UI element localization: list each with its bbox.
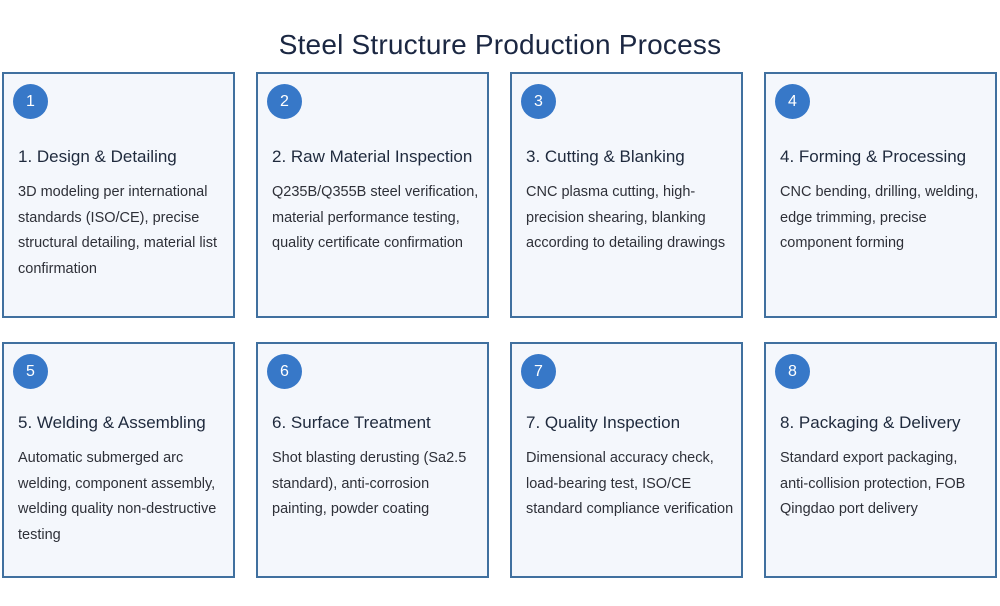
step-number-badge-4: 4 [775,84,810,119]
step-number-badge-3: 3 [521,84,556,119]
process-step-card-3[interactable]: 3 3. Cutting & Blanking CNC plasma cutti… [510,72,743,318]
process-step-card-6[interactable]: 6 6. Surface Treatment Shot blasting der… [256,342,489,578]
step-description-2: Q235B/Q355B steel verification, material… [272,180,481,257]
step-title-6: 6. Surface Treatment [272,412,507,434]
process-step-card-8[interactable]: 8 8. Packaging & Delivery Standard expor… [764,342,997,578]
step-card-body-7: 7. Quality Inspection Dimensional accura… [526,412,761,523]
process-step-card-2[interactable]: 2 2. Raw Material Inspection Q235B/Q355B… [256,72,489,318]
step-title-4: 4. Forming & Processing [780,146,1000,168]
step-title-1: 1. Design & Detailing [18,146,253,168]
process-step-grid: 1 1. Design & Detailing 3D modeling per … [2,72,999,578]
step-number-badge-5: 5 [13,354,48,389]
step-number-badge-8: 8 [775,354,810,389]
step-number-badge-7: 7 [521,354,556,389]
page-title: Steel Structure Production Process [0,29,1000,61]
step-description-1: 3D modeling per international standards … [18,180,227,282]
step-description-3: CNC plasma cutting, high-precision shear… [526,180,735,257]
process-step-card-1[interactable]: 1 1. Design & Detailing 3D modeling per … [2,72,235,318]
step-card-body-3: 3. Cutting & Blanking CNC plasma cutting… [526,146,761,257]
step-title-8: 8. Packaging & Delivery [780,412,1000,434]
step-title-3: 3. Cutting & Blanking [526,146,761,168]
step-card-body-2: 2. Raw Material Inspection Q235B/Q355B s… [272,146,507,257]
step-number-badge-2: 2 [267,84,302,119]
step-number-badge-1: 1 [13,84,48,119]
step-description-6: Shot blasting derusting (Sa2.5 standard)… [272,446,481,523]
step-card-body-1: 1. Design & Detailing 3D modeling per in… [18,146,253,282]
step-number-badge-6: 6 [267,354,302,389]
step-title-2: 2. Raw Material Inspection [272,146,507,168]
step-card-body-8: 8. Packaging & Delivery Standard export … [780,412,1000,523]
process-step-card-4[interactable]: 4 4. Forming & Processing CNC bending, d… [764,72,997,318]
step-card-body-4: 4. Forming & Processing CNC bending, dri… [780,146,1000,257]
step-card-body-6: 6. Surface Treatment Shot blasting derus… [272,412,507,523]
step-description-4: CNC bending, drilling, welding, edge tri… [780,180,989,257]
step-title-7: 7. Quality Inspection [526,412,761,434]
step-description-7: Dimensional accuracy check, load-bearing… [526,446,735,523]
step-title-5: 5. Welding & Assembling [18,412,253,434]
step-card-body-5: 5. Welding & Assembling Automatic submer… [18,412,253,548]
step-description-8: Standard export packaging, anti-collisio… [780,446,989,523]
process-step-card-5[interactable]: 5 5. Welding & Assembling Automatic subm… [2,342,235,578]
process-step-card-7[interactable]: 7 7. Quality Inspection Dimensional accu… [510,342,743,578]
step-description-5: Automatic submerged arc welding, compone… [18,446,227,548]
